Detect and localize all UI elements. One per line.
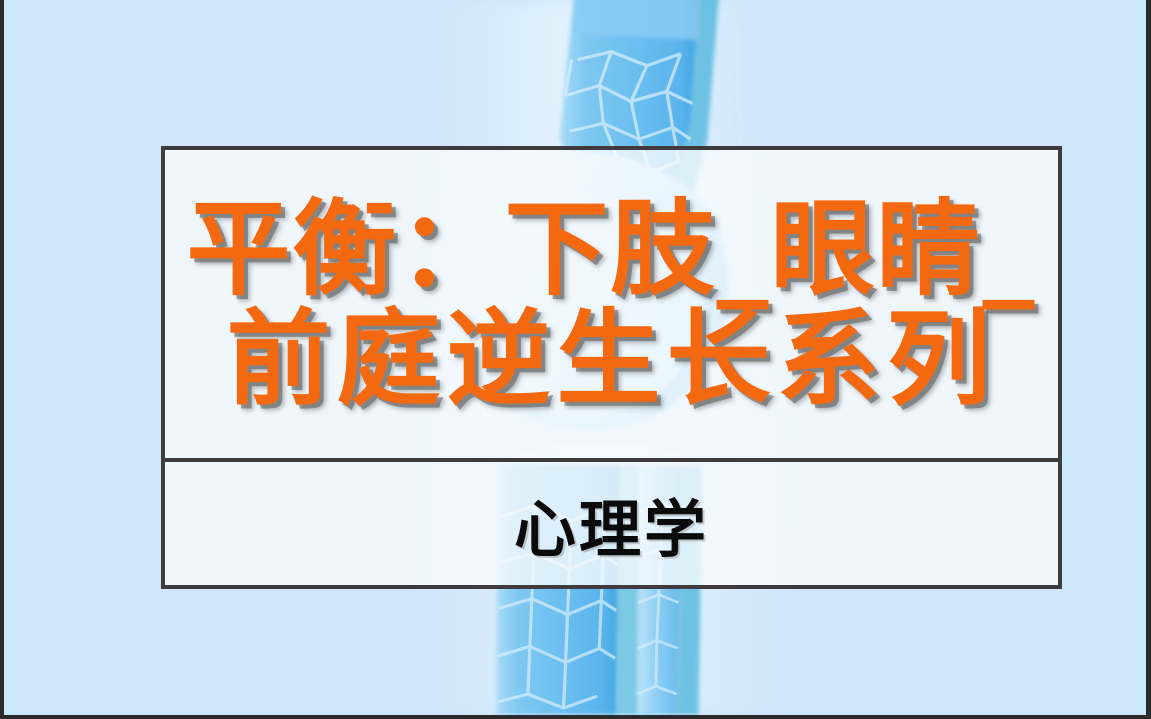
- slide-canvas: 平衡：下肢_眼睛_ 前庭逆生长系列 心理学: [0, 0, 1151, 719]
- title-card: 平衡：下肢_眼睛_ 前庭逆生长系列 心理学: [161, 146, 1062, 589]
- title-card-upper: 平衡：下肢_眼睛_ 前庭逆生长系列: [165, 150, 1058, 462]
- title-card-lower: 心理学: [165, 462, 1058, 585]
- title-line-1: 平衡：下肢_眼睛_: [186, 194, 1036, 304]
- title-line-2: 前庭逆生长系列: [226, 304, 996, 414]
- subtitle-text: 心理学: [514, 479, 709, 569]
